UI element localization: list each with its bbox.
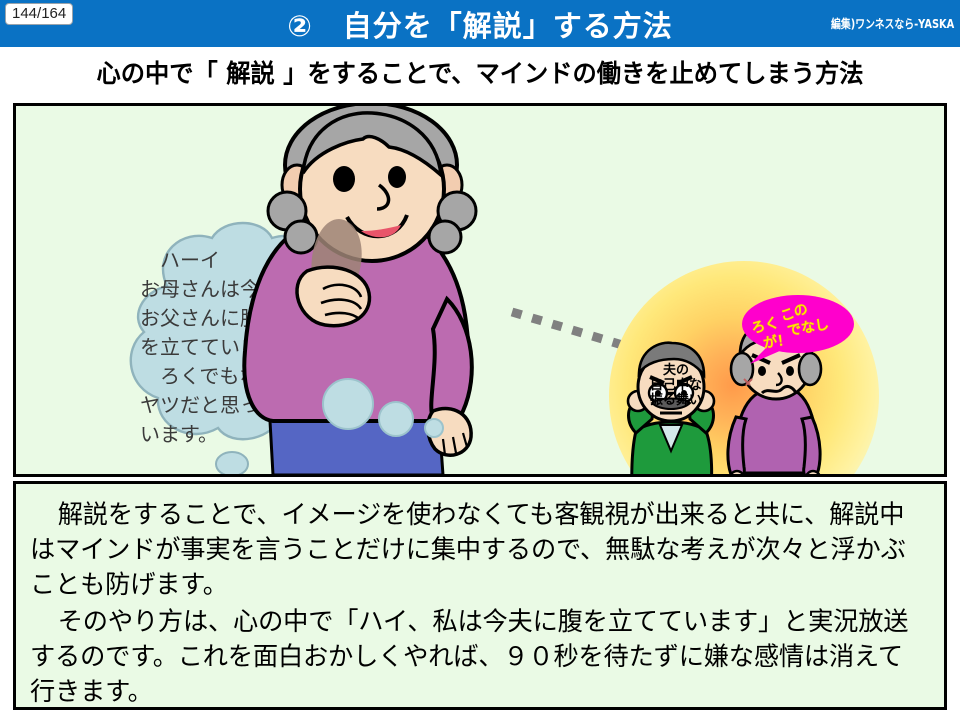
slide-header: ② 自分を「解説」する方法 144/164 編集)ワンネスなら-YASKA — [0, 0, 960, 47]
slide-subtitle: 心の中で「 解説 」をすることで、マインドの働きを止めてしまう方法 — [14, 47, 945, 97]
illustration-panel: ハーイ お母さんは今 お父さんに腹 を立てています。 ろくでもない ヤツだと思っ… — [13, 103, 947, 477]
page-number-badge: 144/164 — [5, 3, 73, 25]
paragraph-1: 解説をすることで、イメージを使わなくても客観視が出来ると共に、解説中はマインドが… — [30, 498, 921, 603]
husband-behavior-label: 夫の 自己中な 振る舞い — [628, 363, 724, 408]
paragraph-2: そのやり方は、心の中で「ハイ、私は今夫に腹を立てています」と実況放送するのです。… — [30, 605, 921, 710]
page-title: ② 自分を「解説」する方法 — [0, 0, 960, 47]
credit-label: 編集)ワンネスなら-YASKA — [831, 15, 954, 32]
shout-bubble — [734, 292, 858, 364]
sound-bubbles — [321, 374, 451, 454]
explanation-panel: 解説をすることで、イメージを使わなくても客観視が出来ると共に、解説中はマインドが… — [13, 481, 947, 710]
